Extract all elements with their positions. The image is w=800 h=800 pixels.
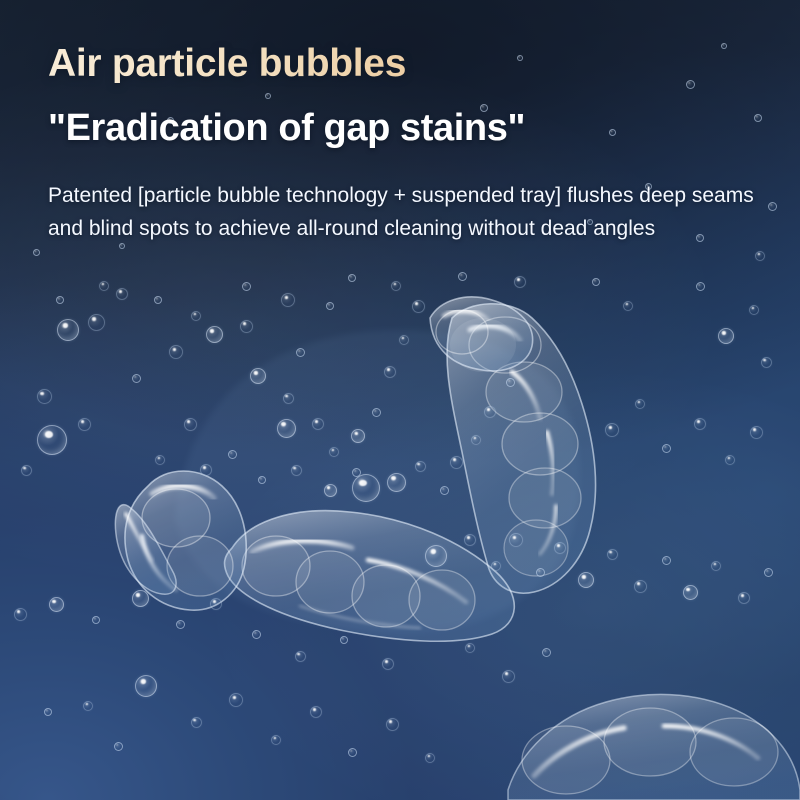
bubble (229, 693, 243, 707)
bubble (250, 368, 266, 384)
bubble (210, 598, 222, 610)
bubble (291, 465, 302, 476)
bubble (471, 435, 481, 445)
bubble (761, 357, 772, 368)
bubble (295, 651, 306, 662)
bubble (116, 288, 128, 300)
bubble (578, 572, 594, 588)
bubble (57, 319, 79, 341)
bubble (277, 419, 296, 438)
bubble (21, 465, 32, 476)
bubble (514, 276, 526, 288)
bubble (240, 320, 253, 333)
bubble (83, 701, 93, 711)
bubble (114, 742, 123, 751)
bubble (348, 274, 356, 282)
bubble (491, 561, 501, 571)
bubble (191, 311, 201, 321)
bubble (258, 476, 266, 484)
bubble (399, 335, 409, 345)
bubble (56, 296, 64, 304)
bubble (502, 670, 515, 683)
bubble (184, 418, 197, 431)
bubble (99, 281, 109, 291)
body-line-1: Patented [particle bubble technology + s… (48, 179, 784, 212)
bubble (88, 314, 105, 331)
bubble (132, 374, 141, 383)
bubble (387, 473, 406, 492)
bubble (92, 616, 100, 624)
bubble (326, 302, 334, 310)
bubble (329, 447, 339, 457)
bubble (458, 272, 467, 281)
bubble (283, 393, 294, 404)
bubble (242, 282, 251, 291)
bubble (634, 580, 647, 593)
bubble (425, 753, 435, 763)
bubble (49, 597, 64, 612)
bubble (464, 534, 476, 546)
bubble (155, 455, 165, 465)
bubble (662, 556, 671, 565)
bubble (37, 389, 52, 404)
bubble (440, 486, 449, 495)
body-copy: Patented [particle bubble technology + s… (48, 179, 784, 245)
bubble (592, 278, 600, 286)
bubble (755, 251, 765, 261)
subheadline: "Eradication of gap stains" (48, 109, 784, 147)
bubble (683, 585, 698, 600)
product-banner: Air particle bubbles "Eradication of gap… (0, 0, 800, 800)
bubble (228, 450, 237, 459)
bubble (607, 549, 618, 560)
bubble (725, 455, 735, 465)
bubble (271, 735, 281, 745)
bubble (252, 630, 261, 639)
bubble (384, 366, 396, 378)
bubble (44, 708, 52, 716)
bubble (176, 620, 185, 629)
bubble (324, 484, 337, 497)
bubble (465, 643, 475, 653)
bubble (14, 608, 27, 621)
bubble (154, 296, 162, 304)
bubble (711, 561, 721, 571)
bubble (623, 301, 633, 311)
bubble (605, 423, 619, 437)
bubble (348, 748, 357, 757)
bubble (132, 590, 149, 607)
bubble (694, 418, 706, 430)
bubble (340, 636, 348, 644)
bubble (296, 348, 305, 357)
bubble (662, 444, 671, 453)
bubble (135, 675, 157, 697)
bubble (509, 533, 523, 547)
bubble (382, 658, 394, 670)
body-line-2: and blind spots to achieve all-round cle… (48, 212, 784, 245)
bubble (718, 328, 734, 344)
bubble (37, 425, 67, 455)
bubble (78, 418, 91, 431)
bubble (738, 592, 750, 604)
bubble (391, 281, 401, 291)
bubble (372, 408, 381, 417)
bubble (425, 545, 447, 567)
bubble (169, 345, 183, 359)
bubble (310, 706, 322, 718)
bubble (749, 305, 759, 315)
bubble (386, 718, 399, 731)
bubble (312, 418, 324, 430)
bubble (506, 378, 515, 387)
bubble (351, 429, 365, 443)
bubble (554, 542, 566, 554)
bubble (635, 399, 645, 409)
bubble (750, 426, 763, 439)
bubble (281, 293, 295, 307)
bubble (191, 717, 202, 728)
bubble (352, 474, 380, 502)
bubble (33, 249, 40, 256)
bubble (764, 568, 773, 577)
bubble (412, 300, 425, 313)
bubble (206, 326, 223, 343)
bubble (415, 461, 426, 472)
headline: Air particle bubbles (48, 44, 784, 83)
bubble (450, 456, 463, 469)
marketing-copy: Air particle bubbles "Eradication of gap… (48, 44, 784, 245)
bubble (542, 648, 551, 657)
bubble (200, 464, 212, 476)
bubble (536, 568, 545, 577)
bubble (696, 282, 705, 291)
bubble (484, 406, 496, 418)
